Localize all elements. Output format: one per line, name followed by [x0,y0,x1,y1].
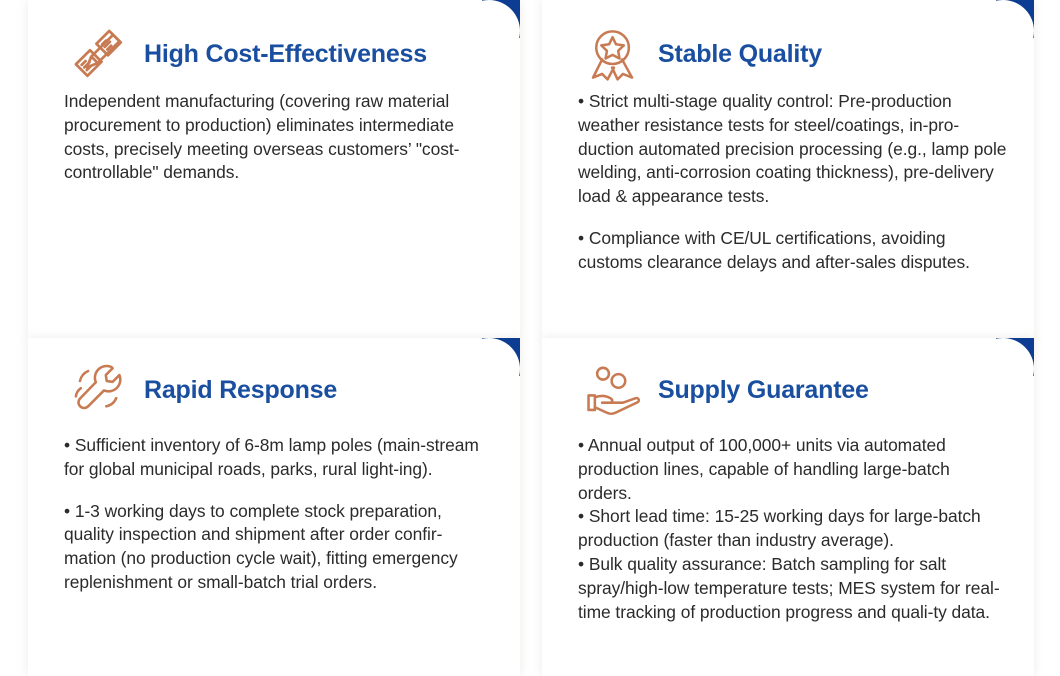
card-paragraph: • 1-3 working days to complete stock pre… [64,500,494,595]
card-body: • Annual output of 100,000+ units via au… [560,422,1014,624]
wrench-icon [68,359,130,421]
card-title: High Cost-Effectiveness [144,40,427,69]
card-title: Supply Guarantee [658,376,869,405]
card-high-cost-effectiveness: High Cost-Effectiveness Independent manu… [28,0,520,338]
corner-accent-decoration [482,338,520,376]
card-header: Rapid Response [46,338,500,422]
card-paragraph: • Strict multi-stage quality control: Pr… [578,90,1008,209]
card-body: Independent manufacturing (covering raw … [46,84,500,185]
corner-accent-decoration [996,338,1034,376]
card-body: • Sufficient inventory of 6-8m lamp pole… [46,422,500,595]
card-header: High Cost-Effectiveness [46,0,500,84]
card-header: Stable Quality [560,0,1014,84]
card-supply-guarantee: Supply Guarantee • Annual output of 100,… [542,338,1034,676]
card-paragraph: • Annual output of 100,000+ units via au… [578,434,1008,505]
corner-accent-decoration [996,0,1034,38]
card-stable-quality: Stable Quality • Strict multi-stage qual… [542,0,1034,338]
card-header: Supply Guarantee [560,338,1014,422]
feature-cards-grid: High Cost-Effectiveness Independent manu… [0,0,1060,676]
corner-accent-decoration [482,0,520,38]
card-paragraph: • Compliance with CE/UL certifications, … [578,227,1008,275]
card-body: • Strict multi-stage quality control: Pr… [560,84,1014,275]
card-paragraph: • Short lead time: 15-25 working days fo… [578,505,1008,553]
card-paragraph: • Bulk quality assurance: Batch sampling… [578,553,1008,624]
card-paragraph: Independent manufacturing (covering raw … [64,90,494,185]
pencil-ruler-icon [68,23,130,85]
card-title: Stable Quality [658,40,822,69]
hand-coins-icon [582,359,644,421]
card-title: Rapid Response [144,376,337,405]
card-rapid-response: Rapid Response • Sufficient inventory of… [28,338,520,676]
award-medal-icon [582,23,644,85]
card-paragraph: • Sufficient inventory of 6-8m lamp pole… [64,434,494,482]
